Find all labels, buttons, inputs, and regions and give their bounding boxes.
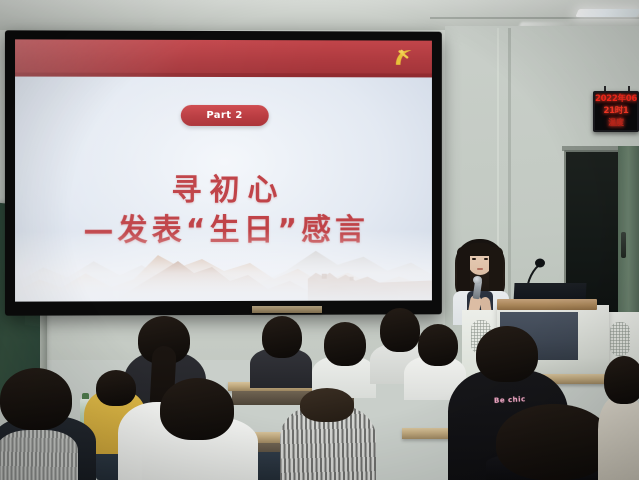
led-line-date: 2022年06 — [595, 93, 637, 105]
audience-shoulders-far-right — [598, 396, 639, 480]
podium-worktop — [497, 299, 597, 310]
tshirt-print-text: Be chic — [494, 395, 526, 405]
audience-head-far-right — [604, 356, 639, 404]
ceiling-light-fixture — [575, 9, 639, 17]
audience-head-backrow-left — [262, 316, 302, 358]
presenter-eye-right — [484, 258, 488, 260]
slide-title-line1: 寻初心 — [15, 165, 432, 209]
ceiling-seam — [430, 17, 639, 19]
mountain-landscape-art — [15, 231, 432, 302]
desk-row4 — [252, 306, 322, 313]
audience-head-front-left — [0, 368, 72, 430]
slide-surface: Part 2 寻初心 —发表“生日”感言 — [15, 39, 432, 301]
audience-head-front-right — [496, 404, 612, 480]
projection-screen[interactable]: Part 2 寻初心 —发表“生日”感言 — [5, 30, 442, 315]
slide-body: Part 2 寻初心 —发表“生日”感言 — [15, 77, 432, 302]
led-clock-sign: 2022年06 21时1 温度 — [593, 91, 639, 132]
door-handle[interactable] — [621, 232, 626, 258]
audience-head-backrow-mid — [324, 322, 366, 366]
led-line-temperature: 温度 — [595, 117, 637, 129]
audience-shoulders-striped-gray — [0, 430, 78, 480]
audience-head-row2-grey — [380, 308, 420, 352]
audience-head-yellow — [96, 370, 136, 406]
slide-header-band — [15, 39, 432, 77]
water-bottle-cap — [82, 393, 89, 399]
led-line-time: 21时1 — [595, 105, 637, 117]
presenter-mouth — [477, 268, 483, 270]
speaker-grille-right — [610, 322, 630, 356]
classroom-photo-scene: 2022年06 21时1 温度 Part 2 寻初心 —发表“生日”感言 — [0, 0, 639, 480]
microphone-head — [473, 276, 482, 284]
audience-head-row2-light — [418, 324, 458, 366]
cpc-hammer-sickle-emblem — [392, 46, 414, 70]
audience-head-black-tshirt — [476, 326, 538, 382]
presenter-hair-left — [457, 247, 470, 297]
slide-part-badge: Part 2 — [180, 105, 268, 126]
presenter-eye-left — [472, 258, 476, 260]
audience-head-striped — [300, 388, 354, 422]
audience-head-center — [160, 378, 234, 440]
